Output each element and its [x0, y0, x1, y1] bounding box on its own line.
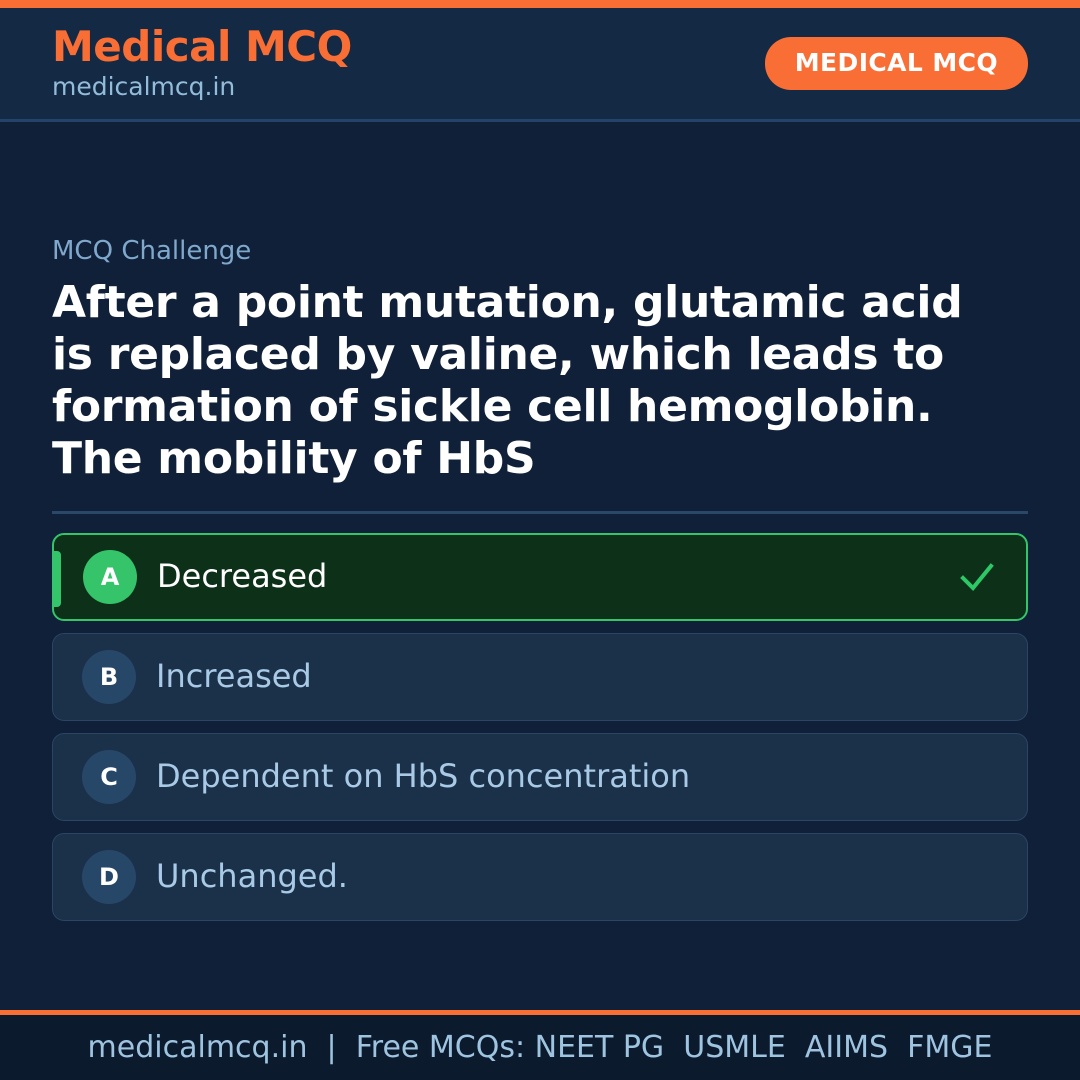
option-label-b: Increased [156, 657, 312, 695]
checkmark-icon [958, 558, 996, 596]
option-badge-c: C [82, 750, 136, 804]
option-row-d[interactable]: D Unchanged. [52, 833, 1028, 921]
option-label-d: Unchanged. [156, 857, 348, 895]
option-row-c[interactable]: C Dependent on HbS concentration [52, 733, 1028, 821]
option-badge-b: B [82, 650, 136, 704]
brand-badge-pill: MEDICAL MCQ [765, 37, 1028, 90]
question-text: After a point mutation, glutamic acid is… [52, 277, 1012, 485]
brand-title: Medical MCQ [52, 25, 352, 69]
correct-accent-bar [54, 551, 61, 607]
footer-text: medicalmcq.in | Free MCQs: NEET PG USMLE… [88, 1033, 993, 1063]
brand-subtitle: medicalmcq.in [52, 71, 352, 102]
option-row-a[interactable]: A Decreased [52, 533, 1028, 621]
option-label-a: Decreased [157, 557, 327, 595]
option-badge-a: A [83, 550, 137, 604]
brand-badge-label: MEDICAL MCQ [795, 50, 998, 75]
page-header: Medical MCQ medicalmcq.in MEDICAL MCQ [0, 8, 1080, 122]
option-letter-b: B [100, 665, 118, 689]
top-accent-bar [0, 0, 1080, 8]
option-label-c: Dependent on HbS concentration [156, 757, 690, 795]
option-row-b[interactable]: B Increased [52, 633, 1028, 721]
option-letter-a: A [101, 565, 120, 589]
brand-block: Medical MCQ medicalmcq.in [52, 25, 352, 102]
options-list: A Decreased B Increased C Dependent on H… [52, 533, 1028, 921]
option-letter-d: D [99, 865, 119, 889]
question-divider [52, 511, 1028, 514]
option-badge-d: D [82, 850, 136, 904]
option-letter-c: C [100, 765, 118, 789]
main-content: MCQ Challenge After a point mutation, gl… [0, 125, 1080, 1010]
mcq-challenge-label: MCQ Challenge [52, 237, 1028, 267]
page-footer: medicalmcq.in | Free MCQs: NEET PG USMLE… [0, 1010, 1080, 1080]
